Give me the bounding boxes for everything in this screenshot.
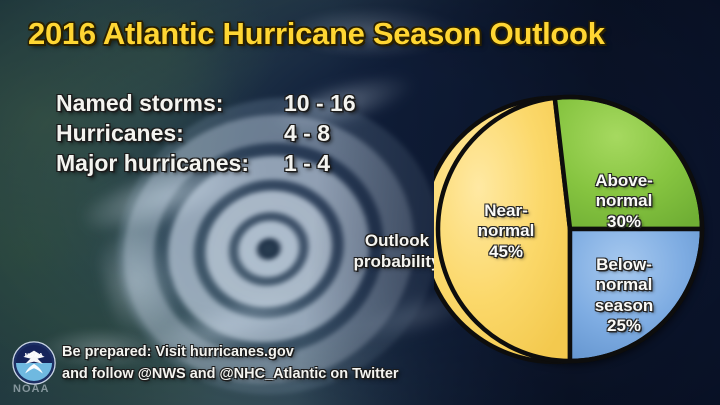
- stat-value-major-hurricanes: 1 - 4: [284, 150, 330, 177]
- stat-row-major-hurricanes: Major hurricanes: 1 - 4: [56, 150, 406, 180]
- stat-value-hurricanes: 4 - 8: [284, 120, 330, 147]
- footer-line2: and follow @NWS and @NHC_Atlantic on Twi…: [62, 363, 399, 385]
- noaa-wordmark: NOAA: [13, 383, 49, 395]
- stat-label-major-hurricanes: Major hurricanes:: [56, 150, 284, 177]
- pie-chart-svg: [434, 93, 706, 365]
- stat-label-hurricanes: Hurricanes:: [56, 120, 284, 147]
- stat-value-named-storms: 10 - 16: [284, 90, 356, 117]
- stat-label-named-storms: Named storms:: [56, 90, 284, 117]
- noaa-logo-mark-text: NOAA: [25, 353, 44, 359]
- noaa-logo-icon: NOAA: [12, 341, 56, 385]
- outlook-probability-pie-chart: Above- normal 30% Below- normal season 2…: [434, 93, 706, 365]
- footer-text: Be prepared: Visit hurricanes.gov and fo…: [62, 341, 399, 386]
- footer-line1: Be prepared: Visit hurricanes.gov: [62, 341, 399, 363]
- stat-row-hurricanes: Hurricanes: 4 - 8: [56, 120, 406, 150]
- stat-row-named-storms: Named storms: 10 - 16: [56, 90, 406, 120]
- hurricane-outlook-infographic: 2016 Atlantic Hurricane Season Outlook N…: [0, 0, 720, 405]
- pie-slice-near-normal[interactable]: [434, 98, 570, 362]
- forecast-stats-list: Named storms: 10 - 16 Hurricanes: 4 - 8 …: [56, 90, 406, 180]
- page-title: 2016 Atlantic Hurricane Season Outlook: [28, 16, 605, 52]
- pie-slice-above-normal[interactable]: [555, 97, 702, 229]
